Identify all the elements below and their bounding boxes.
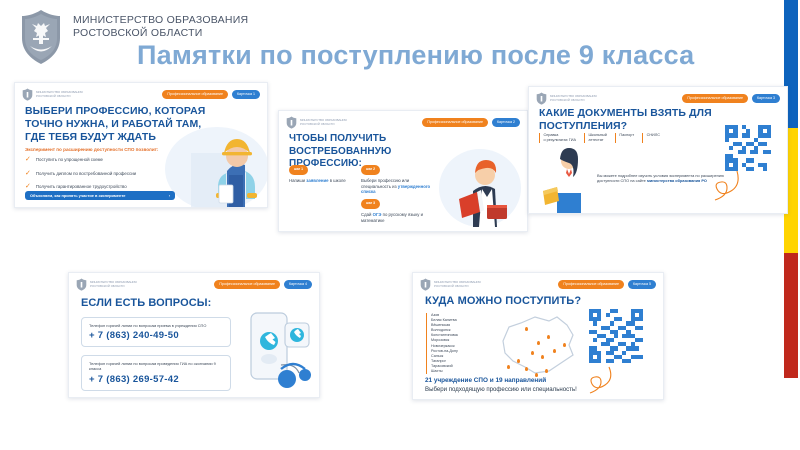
step-text-highlight: заявление — [306, 178, 328, 183]
map-pin — [563, 343, 566, 347]
card-title: ВЫБЕРИ ПРОФЕССИЮ, КОТОРАЯ ТОЧНО НУЖНА, И… — [25, 105, 215, 144]
ministry-line-1: МИНИСТЕРСТВО ОБРАЗОВАНИЯ — [73, 14, 248, 27]
map-pin — [525, 367, 528, 371]
hotline-caption: Телефон горячей линии по вопросам провед… — [89, 361, 223, 372]
map-pin — [507, 365, 510, 369]
step-badge: шаг 2 — [361, 165, 380, 175]
card-header: МИНИСТЕРСТВО ОБРАЗОВАНИЯ РОСТОВСКОЙ ОБЛА… — [15, 83, 267, 103]
map-pin — [531, 351, 534, 355]
document-item: СНИЛС — [642, 133, 660, 143]
ministry-line-2: РОСТОВСКОЙ ОБЛАСТИ — [73, 27, 248, 40]
map-pin — [541, 355, 544, 359]
step-2: шаг 2 Выбери профессию или специальность… — [361, 165, 433, 195]
step-text: Сдай — [361, 212, 373, 217]
list-item: Ростов-на-Дону — [431, 349, 458, 354]
step-badge: шаг 1 — [289, 165, 308, 175]
hotline-caption: Телефон горячей линии по вопросам приема… — [89, 323, 223, 328]
badge-number: Карточка 2 — [492, 118, 520, 127]
card-questions[interactable]: МИНИСТЕРСТВО ОБРАЗОВАНИЯ РОСТОВСКОЙ ОБЛА… — [68, 272, 320, 398]
card-footer-text: Выбери подходящую профессию или специаль… — [425, 386, 577, 393]
step-3: шаг 3 Сдай ОГЭ по русскому языку и матем… — [361, 199, 433, 223]
card-note: Вы можете подробнее изучить условия эксп… — [597, 173, 729, 184]
schoolgirl-with-folder-illustration — [537, 147, 595, 213]
document-item: Школьный аттестат — [584, 133, 607, 143]
check-icon: ✓ — [25, 170, 31, 177]
arrow-right-icon: › — [169, 193, 170, 198]
qr-code-icon — [725, 125, 771, 171]
card-brand-line-2: РОСТОВСКОЙ ОБЛАСТИ — [36, 95, 83, 99]
badge-category: Профессиональное образование — [422, 118, 488, 127]
card-badges: Профессиональное образование Карточка 3 — [682, 94, 780, 103]
document-item: Паспорт — [615, 133, 634, 143]
coat-of-arms-icon — [286, 116, 297, 129]
coat-of-arms-icon — [536, 92, 547, 105]
card-title: КУДА МОЖНО ПОСТУПИТЬ? — [425, 295, 581, 307]
coat-of-arms-icon — [420, 278, 431, 291]
city-list: Азов Белая Калитва Вёшенская Волгодонск … — [426, 313, 458, 374]
step-text: Напиши — [289, 178, 306, 183]
map-pin — [545, 369, 548, 373]
map-pin — [517, 359, 520, 363]
card-brand-line-2: РОСТОВСКОЙ ОБЛАСТИ — [90, 285, 137, 289]
step-badge: шаг 3 — [361, 199, 380, 209]
step-text-tail: в школе — [329, 178, 346, 183]
card-footer-headline: 21 учреждение СПО и 19 направлений — [425, 377, 546, 384]
card-brand: МИНИСТЕРСТВО ОБРАЗОВАНИЯ РОСТОВСКОЙ ОБЛА… — [22, 88, 83, 101]
rostov-region-map — [491, 311, 583, 379]
hotline-number[interactable]: + 7 (863) 269-57-42 — [89, 374, 223, 385]
card-brand-text: МИНИСТЕРСТВО ОБРАЗОВАНИЯ РОСТОВСКОЙ ОБЛА… — [90, 281, 137, 288]
step-1: шаг 1 Напиши заявление в школе — [289, 165, 361, 184]
cta-button[interactable]: Объясняем, как принять участие в экспери… — [25, 191, 175, 200]
ministry-name: МИНИСТЕРСТВО ОБРАЗОВАНИЯ РОСТОВСКОЙ ОБЛА… — [73, 8, 248, 39]
card-title: КАКИЕ ДОКУМЕНТЫ ВЗЯТЬ ДЛЯ ПОСТУПЛЕНИЯ? — [539, 107, 729, 133]
flag-stripe-red — [784, 253, 798, 378]
smartphone-and-headphones-illustration — [241, 307, 315, 393]
card-badges: Профессиональное образование Карточка 2 — [422, 118, 520, 127]
list-item-label: Поступить по упрощенной схеме — [36, 157, 103, 162]
card-brand: МИНИСТЕРСТВО ОБРАЗОВАНИЯ РОСТОВСКОЙ ОБЛА… — [76, 278, 137, 291]
card-brand-line-2: РОСТОВСКОЙ ОБЛАСТИ — [550, 99, 597, 103]
list-item: Шахты — [431, 369, 458, 374]
badge-category: Профессиональное образование — [162, 90, 228, 99]
list-item-label: Получить диплом по востребованной профес… — [36, 171, 136, 176]
card-choose-profession[interactable]: МИНИСТЕРСТВО ОБРАЗОВАНИЯ РОСТОВСКОЙ ОБЛА… — [14, 82, 268, 208]
card-header: МИНИСТЕРСТВО ОБРАЗОВАНИЯ РОСТОВСКОЙ ОБЛА… — [279, 111, 527, 131]
map-pin — [553, 349, 556, 353]
coat-of-arms-icon — [76, 278, 87, 291]
hotline-box-admissions: Телефон горячей линии по вопросам приема… — [81, 317, 231, 347]
benefit-list: ✓Поступить по упрощенной схеме ✓Получить… — [25, 156, 136, 190]
map-pin — [547, 335, 550, 339]
card-brand-line-2: РОСТОВСКОЙ ОБЛАСТИ — [434, 285, 481, 289]
check-icon: ✓ — [25, 156, 31, 163]
curved-arrow-icon — [581, 365, 613, 395]
badge-number: Карточка 3 — [752, 94, 780, 103]
coat-of-arms-icon — [22, 88, 33, 101]
list-item: Новочеркасск — [431, 344, 458, 349]
qr-code-icon — [589, 309, 643, 363]
card-lead-text: Эксперимент по расширению доступности СП… — [25, 147, 158, 152]
card-brand-text: МИНИСТЕРСТВО ОБРАЗОВАНИЯ РОСТОВСКОЙ ОБЛА… — [36, 91, 83, 98]
document-item: Справка о результатах ГИА — [539, 133, 576, 143]
card-note-link[interactable]: министерства образования РО — [647, 178, 707, 183]
badge-category: Профессиональное образование — [558, 280, 624, 289]
cta-button-label: Объясняем, как принять участие в экспери… — [30, 193, 125, 198]
map-pin — [537, 341, 540, 345]
card-where-to-apply[interactable]: МИНИСТЕРСТВО ОБРАЗОВАНИЯ РОСТОВСКОЙ ОБЛА… — [412, 272, 664, 400]
card-header: МИНИСТЕРСТВО ОБРАЗОВАНИЯ РОСТОВСКОЙ ОБЛА… — [69, 273, 319, 293]
check-icon: ✓ — [25, 183, 31, 190]
card-badges: Профессиональное образование Карточка 1 — [162, 90, 260, 99]
badge-number: Карточка 1 — [232, 90, 260, 99]
list-item: ✓Получить диплом по востребованной профе… — [25, 170, 136, 177]
hotline-number[interactable]: + 7 (863) 240-49-50 — [89, 330, 223, 341]
badge-category: Профессиональное образование — [214, 280, 280, 289]
card-brand: МИНИСТЕРСТВО ОБРАЗОВАНИЯ РОСТОВСКОЙ ОБЛА… — [536, 92, 597, 105]
card-header: МИНИСТЕРСТВО ОБРАЗОВАНИЯ РОСТОВСКОЙ ОБЛА… — [413, 273, 663, 293]
card-brand: МИНИСТЕРСТВО ОБРАЗОВАНИЯ РОСТОВСКОЙ ОБЛА… — [286, 116, 347, 129]
card-badges: Профессиональное образование Карточка 4 — [214, 280, 312, 289]
card-documents[interactable]: МИНИСТЕРСТВО ОБРАЗОВАНИЯ РОСТОВСКОЙ ОБЛА… — [528, 86, 788, 214]
card-badges: Профессиональное образование Карточка 5 — [558, 280, 656, 289]
hotline-box-gia: Телефон горячей линии по вопросам провед… — [81, 355, 231, 391]
list-item-label: Получить гарантированное трудоустройство — [36, 184, 127, 189]
badge-category: Профессиональное образование — [682, 94, 748, 103]
card-brand-line-2: РОСТОВСКОЙ ОБЛАСТИ — [300, 123, 347, 127]
card-how-to-get-profession[interactable]: МИНИСТЕРСТВО ОБРАЗОВАНИЯ РОСТОВСКОЙ ОБЛА… — [278, 110, 528, 232]
list-item: ✓Получить гарантированное трудоустройств… — [25, 183, 136, 190]
card-brand-text: МИНИСТЕРСТВО ОБРАЗОВАНИЯ РОСТОВСКОЙ ОБЛА… — [434, 281, 481, 288]
card-title: ЕСЛИ ЕСТЬ ВОПРОСЫ: — [81, 297, 211, 309]
map-pin — [525, 327, 528, 331]
card-brand-text: МИНИСТЕРСТВО ОБРАЗОВАНИЯ РОСТОВСКОЙ ОБЛА… — [300, 119, 347, 126]
flag-stripe — [784, 0, 798, 450]
card-header: МИНИСТЕРСТВО ОБРАЗОВАНИЯ РОСТОВСКОЙ ОБЛА… — [529, 87, 787, 107]
document-list: Справка о результатах ГИА Школьный аттес… — [539, 133, 660, 143]
page-title: Памятки по поступлению после 9 класса — [137, 40, 737, 71]
badge-number: Карточка 5 — [628, 280, 656, 289]
badge-number: Карточка 4 — [284, 280, 312, 289]
list-item: ✓Поступить по упрощенной схеме — [25, 156, 136, 163]
coat-of-arms-icon — [18, 8, 64, 66]
card-brand-text: МИНИСТЕРСТВО ОБРАЗОВАНИЯ РОСТОВСКОЙ ОБЛА… — [550, 95, 597, 102]
card-brand: МИНИСТЕРСТВО ОБРАЗОВАНИЯ РОСТОВСКОЙ ОБЛА… — [420, 278, 481, 291]
